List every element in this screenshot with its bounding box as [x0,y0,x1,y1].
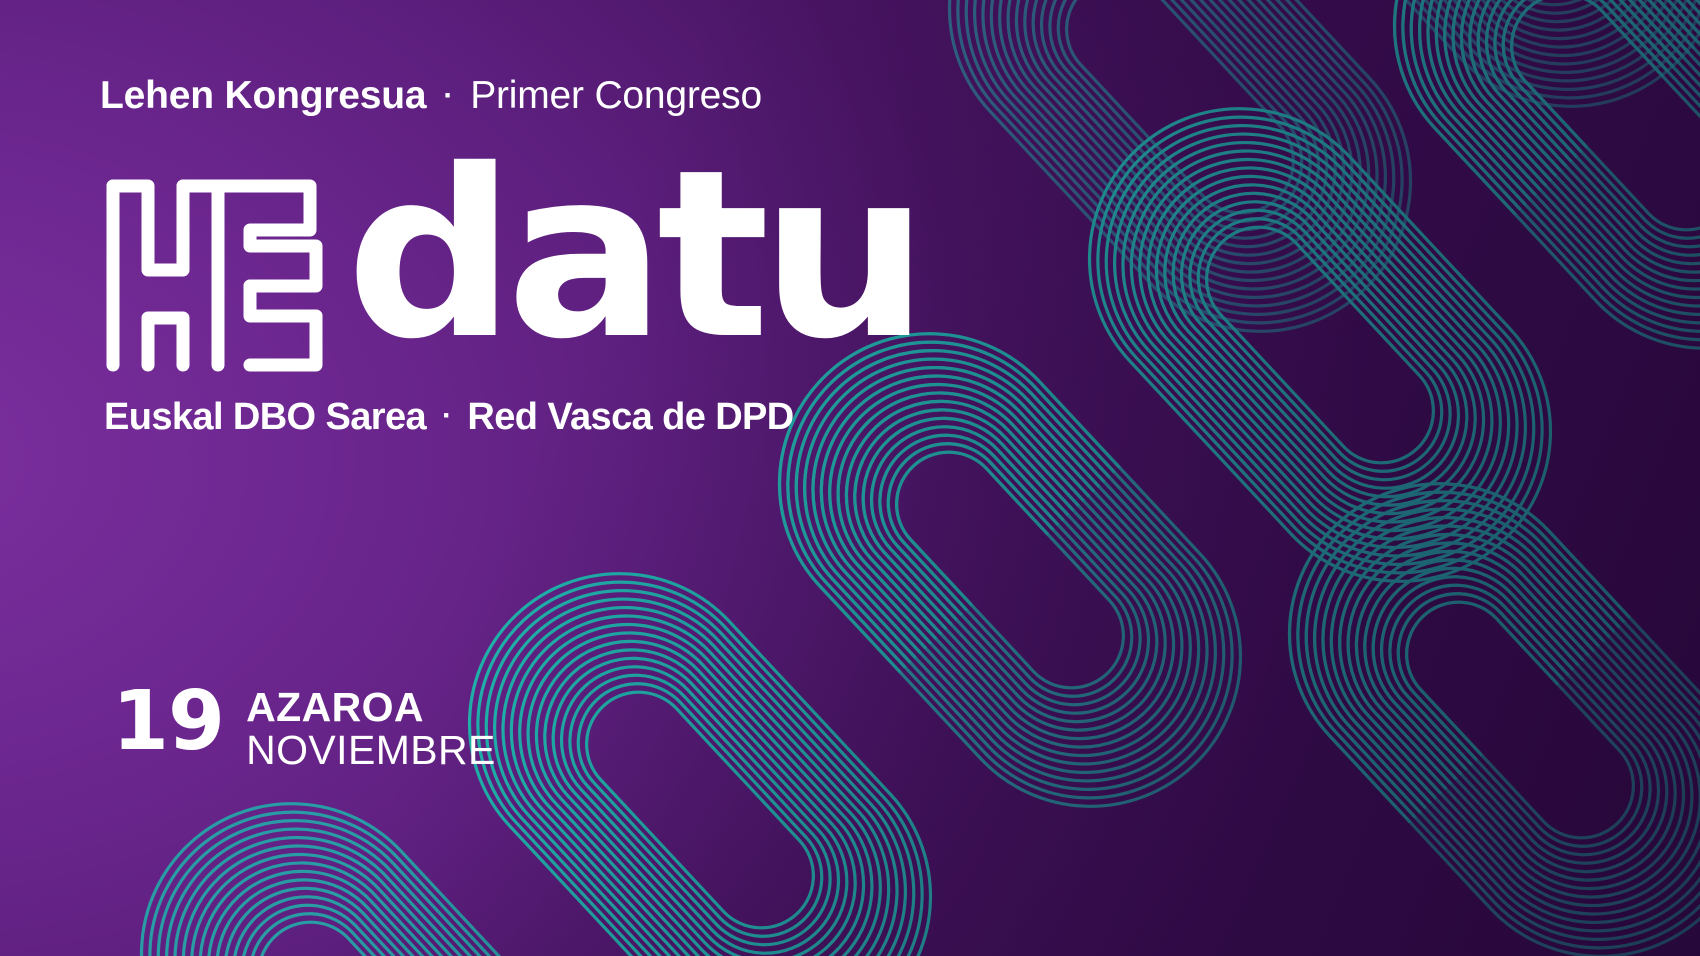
network-tagline: Euskal DBO Sarea·Red Vasca de DPD [104,396,794,439]
kicker-separator: · [426,79,470,112]
date-month-basque: AZAROA [246,686,496,729]
he-monogram-icon [100,168,348,378]
event-date: 19 AZAROA NOVIEMBRE [112,682,496,772]
date-months: AZAROA NOVIEMBRE [246,686,496,772]
poster-content: Lehen Kongresua·Primer Congreso [0,0,1700,956]
hedatu-logo: datu [100,163,909,378]
date-month-spanish: NOVIEMBRE [246,729,496,772]
kicker-basque: Lehen Kongresua [100,74,426,117]
tagline-basque: Euskal DBO Sarea [104,396,426,438]
tagline-spanish: Red Vasca de DPD [467,396,793,438]
logo-wordmark: datu [346,163,920,349]
tagline-separator: · [426,399,467,432]
kicker-spanish: Primer Congreso [470,74,762,117]
poster-canvas: Lehen Kongresua·Primer Congreso [0,0,1700,956]
congress-kicker: Lehen Kongresua·Primer Congreso [100,76,762,115]
date-day: 19 [112,682,224,762]
